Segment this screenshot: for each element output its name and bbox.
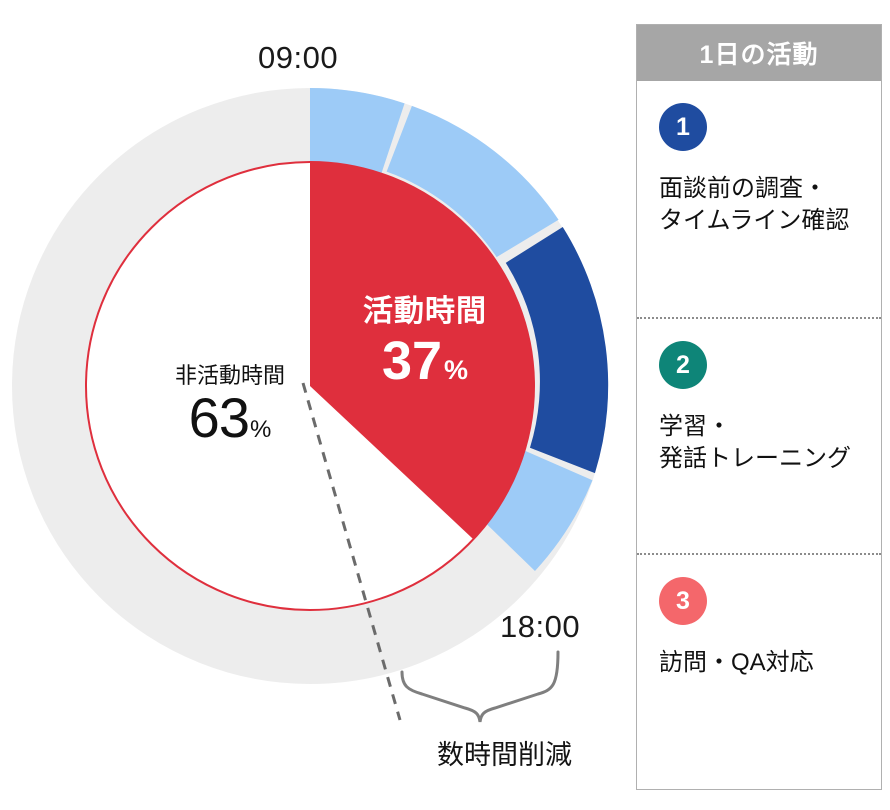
inactive-time-value-row: 63% [120,390,340,446]
active-time-value: 37 [382,331,442,391]
legend-items-list: 1 面談前の調査・ タイムライン確認 2 学習・ 発話トレーニング 3 訪問・Q… [637,81,881,789]
time-label-end: 18:00 [500,609,580,645]
activity-legend-panel: 1日の活動 1 面談前の調査・ タイムライン確認 2 学習・ 発話トレーニング … [636,24,882,790]
active-time-value-row: 37% [330,334,520,388]
legend-label-2: 学習・ 発話トレーニング [659,411,863,474]
donut-chart-area: 09:00 18:00 活動時間 37% 非活動時間 63% 数時間削減 [0,0,630,810]
inactive-time-value: 63 [189,386,249,449]
inactive-time-unit: % [250,416,271,443]
active-time-unit: % [444,355,468,385]
legend-item-3[interactable]: 3 訪問・QA対応 [637,553,881,789]
legend-badge-1: 1 [659,103,707,151]
inactive-time-title: 非活動時間 [120,364,340,388]
legend-item-1[interactable]: 1 面談前の調査・ タイムライン確認 [637,81,881,317]
legend-badge-3: 3 [659,577,707,625]
active-time-title: 活動時間 [330,296,520,328]
legend-header-title: 1日の活動 [637,25,881,81]
active-time-label: 活動時間 37% [330,296,520,388]
legend-label-3: 訪問・QA対応 [659,647,863,679]
inactive-time-label: 非活動時間 63% [120,364,340,446]
legend-item-2[interactable]: 2 学習・ 発話トレーニング [637,317,881,553]
legend-badge-2: 2 [659,341,707,389]
reduction-annotation: 数時間削減 [437,733,572,772]
reduction-brace [402,652,558,722]
legend-label-1: 面談前の調査・ タイムライン確認 [659,173,863,236]
time-label-start: 09:00 [258,40,338,76]
